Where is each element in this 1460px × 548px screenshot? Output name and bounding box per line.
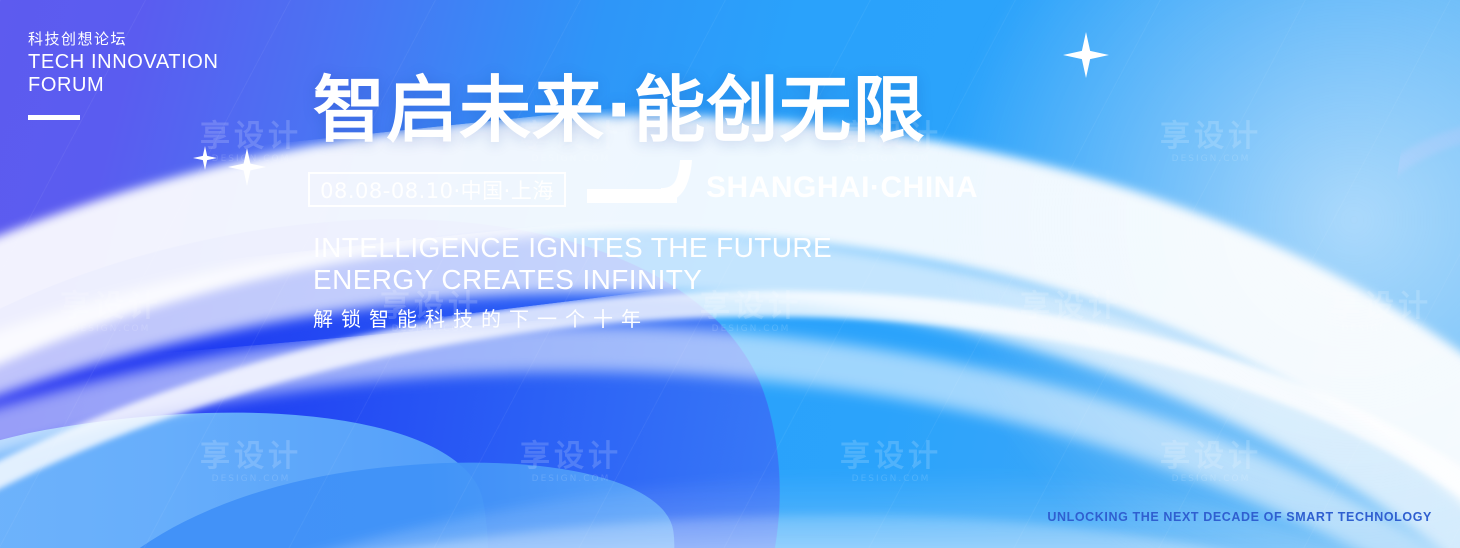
forum-name-cn: 科技创想论坛 xyxy=(28,28,228,49)
watermark: 享设计DESIGN.COM xyxy=(700,290,802,334)
watermark: 享设计DESIGN.COM xyxy=(1020,290,1122,334)
subtitle-en-line2: ENERGY CREATES INFINITY xyxy=(313,264,832,296)
watermark: 享设计DESIGN.COM xyxy=(840,440,942,484)
sparkle-icon xyxy=(193,146,217,170)
watermark: 享设计DESIGN.COM xyxy=(520,440,622,484)
footer-tagline: UNLOCKING THE NEXT DECADE OF SMART TECHN… xyxy=(1047,510,1432,524)
event-poster: 享设计DESIGN.COM享设计DESIGN.COM享设计DESIGN.COM享… xyxy=(0,0,1460,548)
watermark: 享设计DESIGN.COM xyxy=(1160,120,1262,164)
bottom-sweep-1 xyxy=(0,470,1460,548)
right-arc-3 xyxy=(865,0,1460,548)
hook-mark-decoration xyxy=(587,160,693,210)
watermark: 享设计DESIGN.COM xyxy=(1160,440,1262,484)
right-arc-5 xyxy=(1240,120,1460,548)
forum-name-en: TECH INNOVATION FORUM xyxy=(28,51,228,97)
date-location-badge: 08.08-08.10·中国·上海 xyxy=(308,172,566,207)
watermark: 享设计DESIGN.COM xyxy=(200,120,302,164)
subtitle-en-line1: INTELLIGENCE IGNITES THE FUTURE xyxy=(313,232,832,264)
watermark: 享设计DESIGN.COM xyxy=(1330,290,1432,334)
mid-blue-wedge xyxy=(45,428,695,548)
sparkle-icon xyxy=(228,148,266,186)
city-label: SHANGHAI·CHINA xyxy=(706,171,978,205)
hook-mark-icon xyxy=(587,160,693,210)
watermark: 享设计DESIGN.COM xyxy=(60,290,162,334)
date-location-text: 08.08-08.10·中国·上海 xyxy=(320,175,554,205)
right-arc-4 xyxy=(1010,0,1460,548)
watermark: 享设计DESIGN.COM xyxy=(200,440,302,484)
light-blue-wedge xyxy=(0,357,531,548)
subtitle-en: INTELLIGENCE IGNITES THE FUTURE ENERGY C… xyxy=(313,232,832,295)
page-title: 智启未来·能创无限 xyxy=(313,74,925,146)
white-ribbon-4 xyxy=(0,173,1460,548)
sparkle-icon xyxy=(1063,32,1109,78)
header-divider xyxy=(28,115,80,120)
subtitle-cn: 解锁智能科技的下一个十年 xyxy=(313,303,649,332)
right-haze xyxy=(920,0,1460,548)
brand-header: 科技创想论坛 TECH INNOVATION FORUM xyxy=(28,28,228,120)
